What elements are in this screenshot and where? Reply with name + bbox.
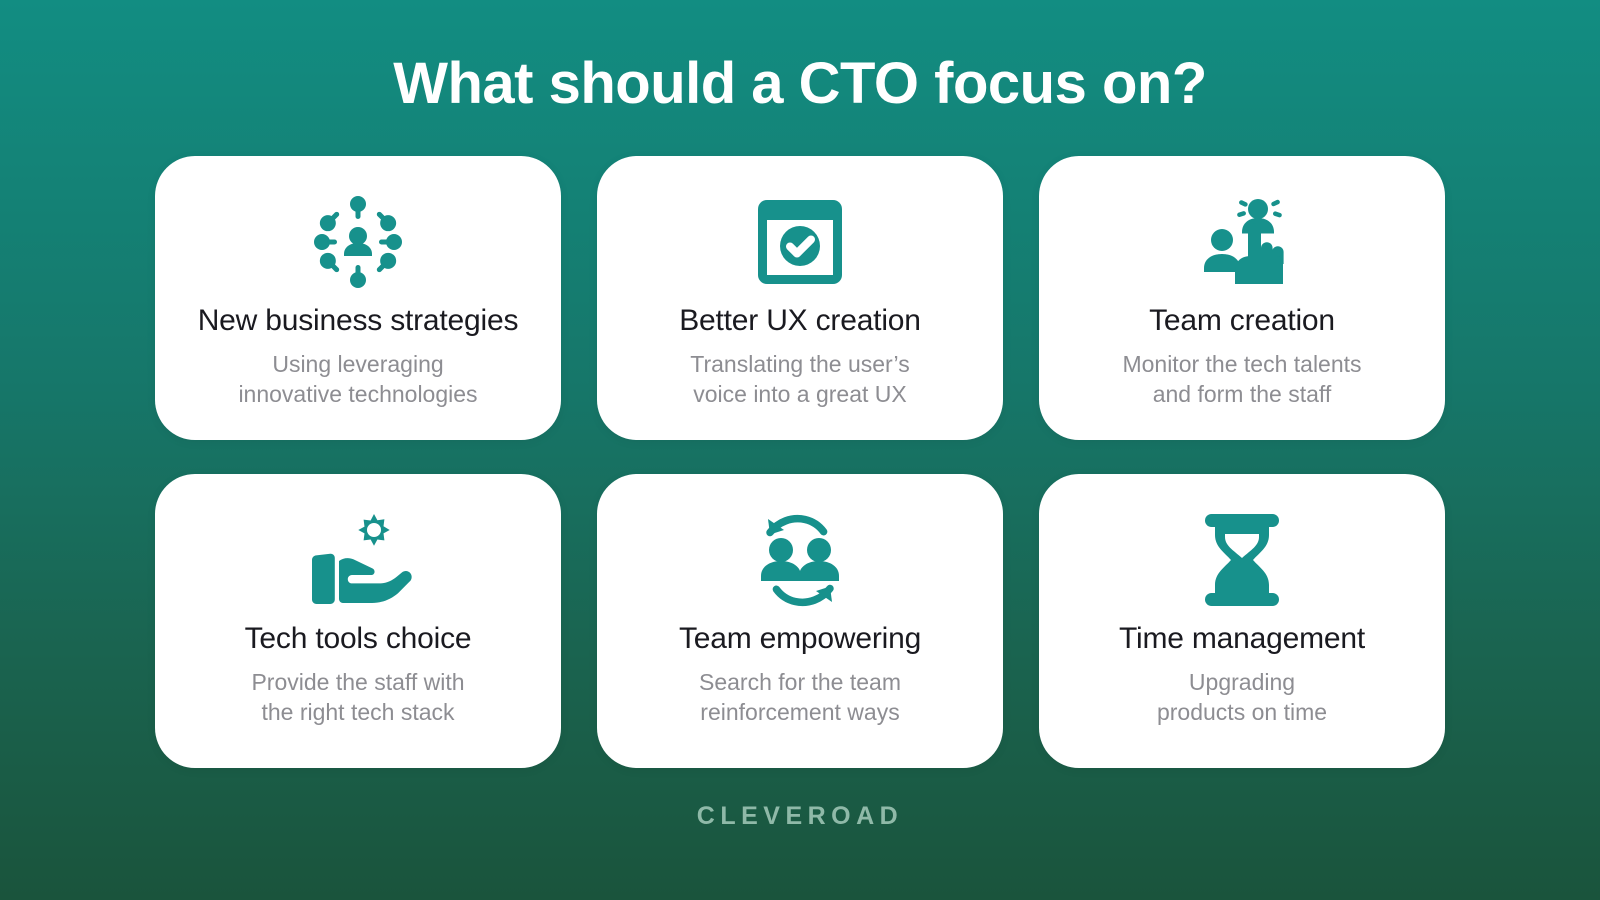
card-title: Team empowering <box>665 622 935 657</box>
window-checkmark-icon <box>750 190 850 294</box>
network-hub-icon <box>308 190 408 294</box>
page-title: What should a CTO focus on? <box>393 52 1207 116</box>
hand-gear-icon <box>302 508 414 612</box>
card-time-management[interactable]: Time management Upgrading products on ti… <box>1039 474 1445 768</box>
hourglass-icon <box>1199 508 1285 612</box>
card-description: Monitor the tech talents and form the st… <box>1102 350 1381 409</box>
hand-pointing-person-icon <box>1192 190 1292 294</box>
card-title: Better UX creation <box>665 304 935 339</box>
card-title: New business strategies <box>184 304 533 339</box>
card-title: Time management <box>1105 622 1379 657</box>
infographic-poster: What should a CTO focus on? <box>0 0 1600 900</box>
card-description: Provide the staff with the right tech st… <box>231 668 484 727</box>
card-title: Tech tools choice <box>231 622 486 657</box>
card-description: Using leveraging innovative technologies <box>218 350 497 409</box>
card-team-empowering[interactable]: Team empowering Search for the team rein… <box>597 474 1003 768</box>
two-people-cycle-icon <box>748 508 852 612</box>
cleveroad-logo: CLEVEROAD <box>697 802 903 831</box>
card-description: Upgrading products on time <box>1137 668 1347 727</box>
card-new-business-strategies[interactable]: New business strategies Using leveraging… <box>155 156 561 440</box>
cards-grid: New business strategies Using leveraging… <box>155 156 1445 768</box>
card-description: Search for the team reinforcement ways <box>679 668 921 727</box>
card-better-ux-creation[interactable]: Better UX creation Translating the user’… <box>597 156 1003 440</box>
card-tech-tools-choice[interactable]: Tech tools choice Provide the staff with… <box>155 474 561 768</box>
card-description: Translating the user’s voice into a grea… <box>670 350 929 409</box>
card-title: Team creation <box>1135 304 1349 339</box>
card-team-creation[interactable]: Team creation Monitor the tech talents a… <box>1039 156 1445 440</box>
